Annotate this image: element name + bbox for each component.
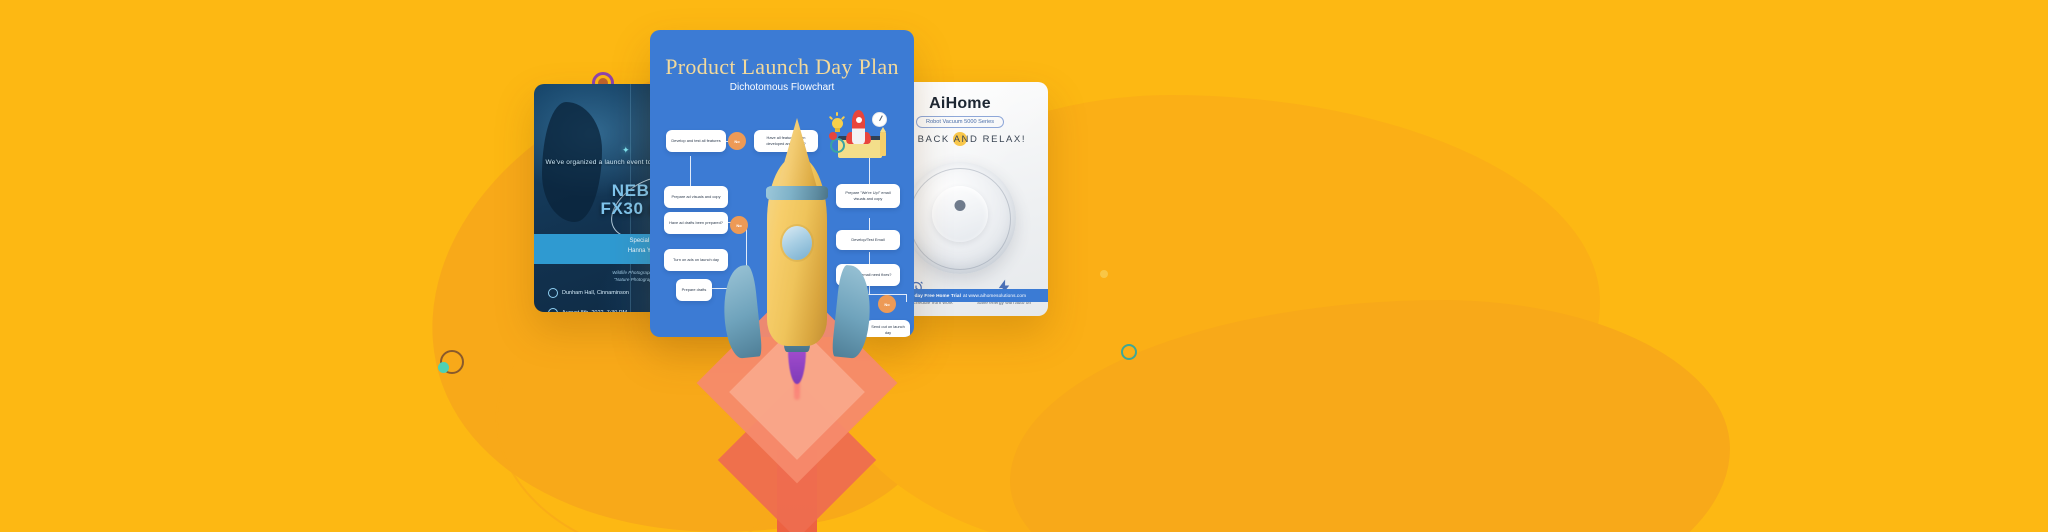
flow-decision-yes[interactable]: Yes	[838, 295, 856, 313]
calendar-icon	[548, 308, 558, 312]
clock-icon	[872, 112, 887, 127]
flow-connector	[869, 218, 870, 230]
flow-decision-no-1[interactable]: No	[728, 132, 746, 150]
nebula-venue: Dunham Hall, Cinnaminson	[548, 288, 629, 298]
flow-node-develop-test-email[interactable]: Develop/Test Email	[836, 230, 900, 250]
ring-teal-icon	[1121, 344, 1137, 360]
dot-yellow-icon	[1100, 270, 1108, 278]
circle-accent-icon	[830, 138, 845, 153]
robot-vacuum-sensor	[955, 200, 966, 211]
nebula-venue-text: Dunham Hall, Cinnaminson	[562, 290, 629, 296]
flowchart-icon-cluster	[828, 108, 890, 162]
flow-node-ad-drafts-prepared[interactable]: Have ad drafts been prepared?	[664, 212, 728, 234]
flow-connector	[846, 294, 906, 295]
lightbulb-ray-icon	[836, 112, 838, 116]
flow-connector	[906, 294, 907, 302]
pencil-icon	[880, 132, 886, 156]
aihome-footer-rest: at www.aihomesolutions.com	[963, 293, 1026, 298]
flow-decision-no-3[interactable]: No	[878, 295, 896, 313]
nebula-datetime: August 8th, 2022, 7:30 PM	[548, 308, 627, 312]
flow-node-prepare-drafts[interactable]: Prepare drafts	[676, 279, 712, 301]
flow-connector	[746, 222, 747, 288]
dot-teal-icon	[438, 362, 449, 373]
flow-node-turn-on-ads[interactable]: Turn on ads on launch day	[664, 249, 728, 271]
rocket-icon	[852, 110, 865, 144]
flow-node-send-out-launch-day[interactable]: Send out on launch day	[866, 320, 910, 337]
robot-vacuum-top	[932, 186, 988, 242]
aihome-series-pill: Robot Vacuum 5000 Series	[916, 116, 1004, 128]
flow-node-prepare-email[interactable]: Prepare "We're Up!" email visuals and co…	[836, 184, 900, 208]
nebula-datetime-text: August 8th, 2022, 7:30 PM	[562, 310, 627, 312]
flowchart-subtitle: Dichotomous Flowchart	[650, 82, 914, 93]
flowchart-card[interactable]: Product Launch Day Plan Dichotomous Flow…	[650, 30, 914, 337]
background-blob-right	[1010, 300, 1730, 532]
location-pin-icon	[548, 288, 558, 298]
dot-red-icon	[829, 132, 837, 140]
flow-connector	[869, 252, 870, 264]
flow-node-email-needs-fixes[interactable]: Does the email need fixes?	[836, 264, 900, 286]
flowchart-title: Product Launch Day Plan	[650, 54, 914, 80]
lightbulb-ray-icon	[841, 116, 845, 120]
flow-node-features-tested[interactable]: Have all features been developed and tes…	[754, 130, 818, 152]
flow-decision-no-2[interactable]: No	[730, 216, 748, 234]
sparkle-icon: ✦	[622, 146, 630, 155]
flow-connector	[690, 156, 691, 186]
flow-node-prepare-ad-visuals[interactable]: Prepare ad visuals and copy	[664, 186, 728, 208]
flow-connector	[712, 288, 746, 289]
flow-connector	[869, 286, 870, 294]
flow-node-develop-test[interactable]: Develop and test all features	[666, 130, 726, 152]
hero-banner: ✦ ✦ We've organized a launch event to ce…	[0, 0, 2048, 532]
